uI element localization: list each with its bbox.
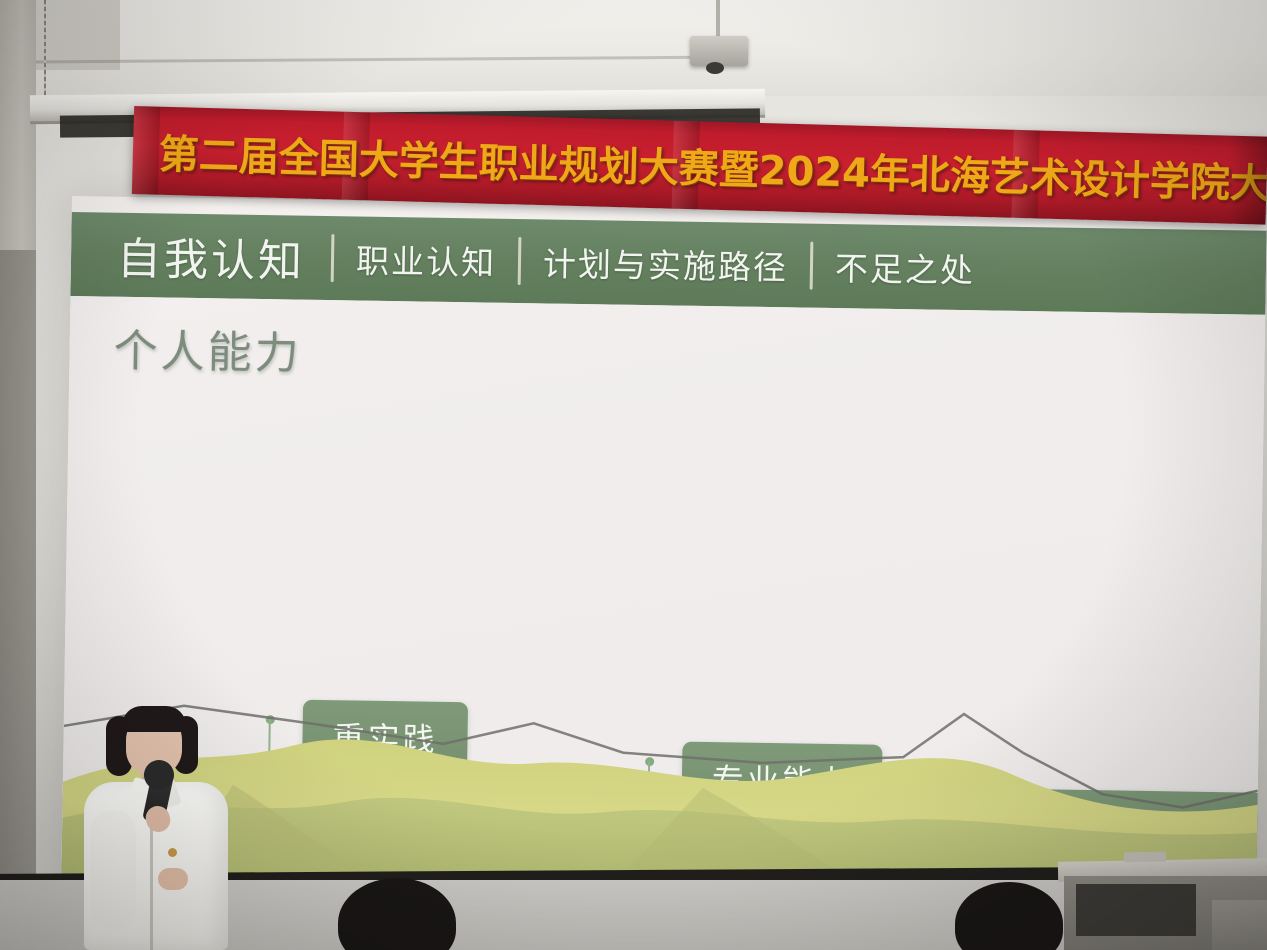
left-pillar-shadow xyxy=(0,250,36,950)
nav-item-plan-and-path[interactable]: 计划与实施路径 xyxy=(521,237,811,290)
nav-item-career-cognition[interactable]: 职业认知 xyxy=(334,234,519,285)
screen-pull-chain xyxy=(44,0,46,96)
presenter-badge-icon xyxy=(168,848,177,857)
presenter-arm xyxy=(90,810,136,930)
presenter-hair-fringe xyxy=(122,706,186,732)
projector-lens-icon xyxy=(706,62,724,74)
nav-item-self-cognition[interactable]: 自我认知 xyxy=(117,223,332,290)
presenter xyxy=(40,690,240,950)
projector-mount-rod xyxy=(716,0,720,40)
desk-item xyxy=(1124,852,1166,863)
lectern-desk-recess xyxy=(1076,884,1196,936)
lectern-desk-side-cabinet xyxy=(1212,900,1267,950)
ceiling-projector xyxy=(690,36,748,66)
slide-content-area: 个人能力 重实践 实践动手能力强，喜欢把理论知识用于实践，并且在实践中寻找真理 … xyxy=(61,296,1265,905)
projection-screen: 自我认知 职业认知 计划与实施路径 不足之处 个人能力 重实践 实践动手能力强，… xyxy=(61,196,1267,905)
ceiling-band xyxy=(0,0,1267,96)
presenter-hand-gesture xyxy=(158,868,188,890)
nav-item-shortcomings[interactable]: 不足之处 xyxy=(813,242,998,293)
projected-presentation-photo: 自我认知 职业认知 计划与实施路径 不足之处 个人能力 重实践 实践动手能力强，… xyxy=(0,0,1267,950)
slide-title: 个人能力 xyxy=(113,315,302,382)
